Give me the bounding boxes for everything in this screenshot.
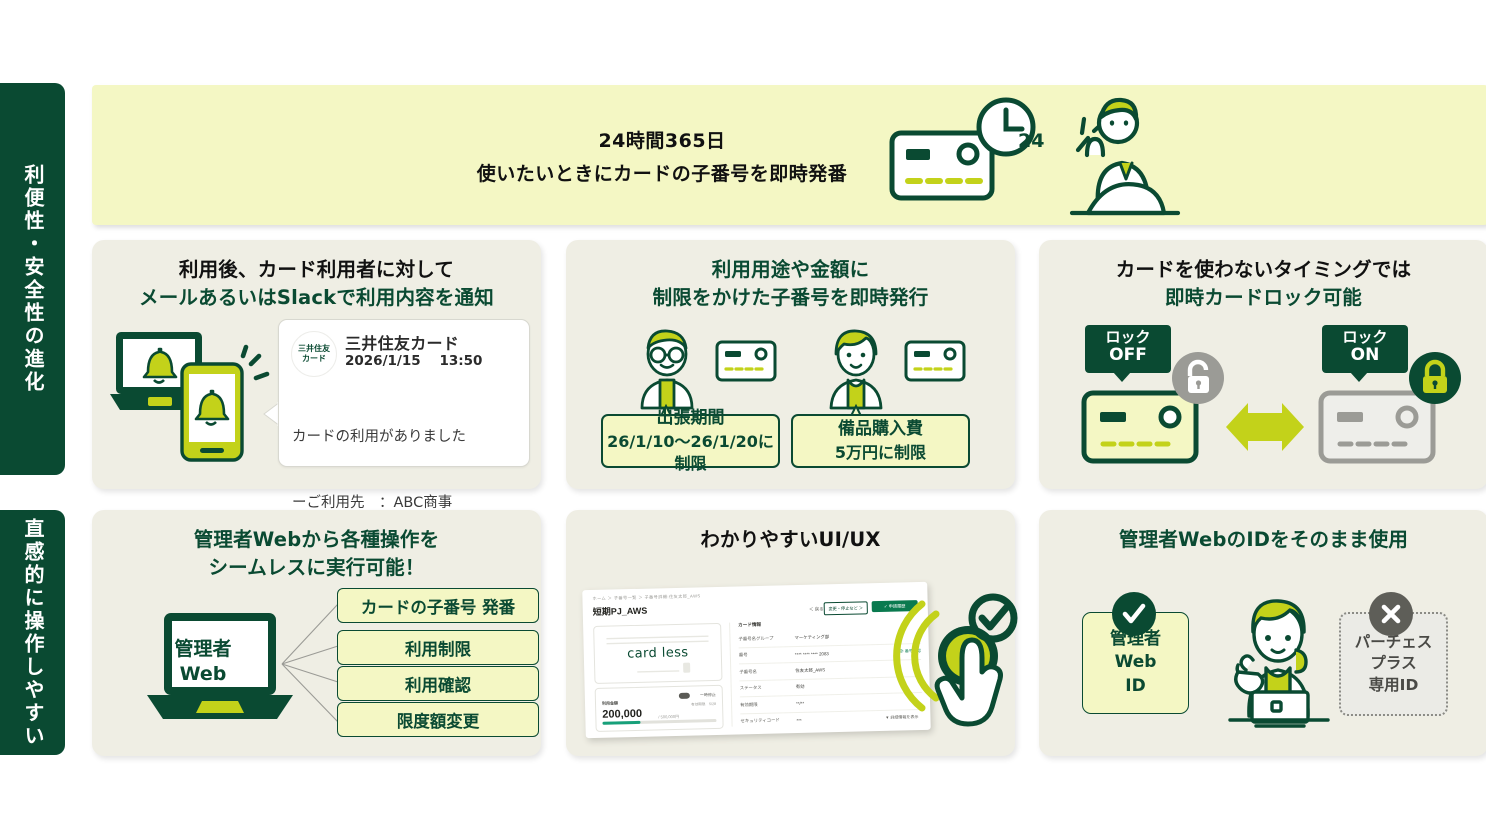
chip-issue-child-number-label: カードの子番号 発番 (361, 594, 515, 618)
lock-off-tag-line2: OFF (1085, 346, 1171, 366)
panel-notify-title-line1: 利用後、カード利用者に対して (92, 256, 541, 284)
panel-adminweb-title-line1: 管理者Webから各種操作を (92, 526, 541, 554)
mockup-row-key: セキュリティコード (740, 717, 796, 724)
clock-24-label: 24 (1018, 130, 1044, 152)
mockup-amount-box: ー時停止 有効期限 5/28 利用金額 200,000 / 500,000円 (595, 685, 724, 732)
lock-off-tag-line1: ロック (1085, 329, 1171, 346)
callout-supplies-limit-line1: 備品購入費 (838, 418, 923, 442)
hero-banner-text: 24時間365日 使いたいときにカードの子番号を即時発番 (432, 125, 892, 192)
unlock-icon (1172, 352, 1224, 404)
hero-illustration: 24 (882, 95, 1182, 220)
panel-notify-title-line2: メールあるいはSlackで利用内容を通知 (92, 284, 541, 312)
mockup-row-key: 有効期限 (740, 701, 796, 708)
mockup-row-key: 子番号名 (739, 668, 795, 675)
panel-lock-title-line2: 即時カードロック可能 (1039, 284, 1486, 312)
notification-sender: 三井住友カード (345, 330, 459, 354)
panel-adminweb-title: 管理者Webから各種操作を シームレスに実行可能！ (92, 526, 541, 583)
sidebar-tab-usability-label: 直感的に操作しやすい (20, 518, 45, 748)
chip-change-limit-amount[interactable]: 限度額変更 (337, 702, 539, 737)
adminweb-connector-lines (280, 588, 342, 738)
mockup-expiry: 有効期限 5/28 (691, 702, 716, 708)
limits-card-1 (715, 340, 777, 382)
lock-icon (1409, 352, 1461, 404)
callout-travel-limit-line2: 26/1/10〜26/1/20に制限 (603, 431, 778, 476)
limits-person-2 (816, 328, 896, 410)
lock-on-tag: ロック ON (1322, 325, 1408, 373)
lock-on-tag-line2: ON (1322, 346, 1408, 366)
issuer-logo: 三井住友 カード (291, 331, 337, 377)
adminweb-screen-label: 管理者 Web (160, 637, 246, 686)
mockup-amount-label: 利用金額 (602, 700, 618, 706)
swap-arrow-icon (1222, 395, 1308, 459)
panel-uiux-title-line1: わかりやすいUI/UX (566, 526, 1015, 554)
notification-card: 三井住友 カード 三井住友カード 2026/1/15 13:50 カードの利用が… (278, 319, 530, 467)
sidebar-tab-usability: 直感的に操作しやすい (0, 510, 65, 755)
issuer-logo-line1: 三井住友 (298, 344, 330, 354)
admin-ui-mockup[interactable]: ホーム ＞ 子番号一覧 ＞ 子番号詳細:住友太郎_AWS 短期PJ_AWS ＜ … (582, 582, 931, 738)
chip-usage-limit-label: 利用制限 (405, 636, 471, 660)
mockup-card-visual: card less (593, 623, 722, 684)
sidebar-tab-convenience-label: 利便性・安全性の進化 (20, 164, 45, 394)
chip-usage-check[interactable]: 利用確認 (337, 666, 539, 701)
check-badge-icon (1112, 592, 1156, 636)
chip-usage-check-label: 利用確認 (405, 672, 471, 696)
panel-adminweb-title-line2: シームレスに実行可能！ (92, 554, 541, 582)
notification-body-line1: カードの利用がありました (292, 426, 466, 448)
mockup-breadcrumb: ホーム ＞ 子番号一覧 ＞ 子番号詳細:住友太郎_AWS (592, 593, 700, 602)
notification-time: 13:50 (439, 353, 482, 369)
mockup-secondary-button[interactable]: 変更・停止など ＞ (824, 601, 868, 615)
lock-off-tag: ロック OFF (1085, 325, 1171, 373)
mockup-row-value: **** **** **** 2083 (795, 649, 899, 657)
chip-issue-child-number[interactable]: カードの子番号 発番 (337, 588, 539, 623)
lock-on-tag-line1: ロック (1322, 329, 1408, 346)
mockup-row-key: ステータス (740, 684, 796, 691)
sidebar-tab-convenience: 利便性・安全性の進化 (0, 83, 65, 475)
issuer-logo-line2: カード (302, 354, 326, 364)
callout-travel-limit-line1: 出張期間 (657, 407, 725, 431)
tap-gesture-illustration (900, 586, 1020, 726)
panel-sameid-title: 管理者WebのIDをそのまま使用 (1039, 526, 1486, 554)
id-box-purchase-plus-line3: 専用ID (1369, 675, 1419, 696)
panel-lock-title-line1: カードを使わないタイミングでは (1039, 256, 1486, 284)
cross-badge-icon (1369, 592, 1413, 636)
callout-supplies-limit-line2: 5万円に制限 (835, 442, 926, 464)
notification-date: 2026/1/15 (345, 353, 421, 369)
mockup-row-key: 子番号名グループ (738, 635, 794, 642)
adminweb-screen-label-line1: 管理者 (160, 637, 246, 662)
id-box-adminweb-line3: ID (1125, 675, 1145, 698)
limits-person-1 (627, 328, 707, 410)
id-box-adminweb-line2: Web (1115, 651, 1157, 674)
mockup-pause-label: ー時停止 (700, 692, 716, 698)
callout-travel-limit: 出張期間 26/1/10〜26/1/20に制限 (601, 414, 780, 468)
mockup-back-link[interactable]: ＜ 戻る (809, 606, 824, 612)
notification-timestamp: 2026/1/15 13:50 (345, 353, 482, 369)
limits-card-2 (904, 340, 966, 382)
hero-line1: 24時間365日 (432, 125, 892, 158)
panel-limits-title-line1: 利用用途や金額に (566, 256, 1015, 284)
id-box-purchase-plus-line2: プラス (1370, 653, 1416, 674)
mockup-pause-toggle[interactable] (679, 693, 690, 699)
chip-change-limit-amount-label: 限度額変更 (397, 708, 480, 732)
mockup-amount-value: 200,000 (602, 708, 642, 721)
panel-sameid-title-line1: 管理者WebのIDをそのまま使用 (1039, 526, 1486, 554)
mockup-detail-pane: カード情報 子番号名グループ マーケティング部 番号 **** **** ***… (729, 618, 922, 727)
panel-notify-title: 利用後、カード利用者に対して メールあるいはSlackで利用内容を通知 (92, 256, 541, 313)
panel-uiux-title: わかりやすいUI/UX (566, 526, 1015, 554)
adminweb-screen-label-line2: Web (160, 662, 246, 687)
chip-usage-limit[interactable]: 利用制限 (337, 630, 539, 665)
notify-devices-illustration (110, 328, 270, 463)
panel-limits-title: 利用用途や金額に 制限をかけた子番号を即時発行 (566, 256, 1015, 313)
callout-supplies-limit: 備品購入費 5万円に制限 (791, 414, 970, 468)
sameid-person-illustration (1216, 598, 1334, 726)
mockup-page-title: 短期PJ_AWS (593, 604, 648, 618)
slide-canvas: 利便性・安全性の進化 直感的に操作しやすい 24時間365日 使いたいときにカー… (0, 0, 1486, 836)
hero-banner: 24時間365日 使いたいときにカードの子番号を即時発番 24 (92, 85, 1486, 225)
hero-line2: 使いたいときにカードの子番号を即時発番 (432, 158, 892, 191)
panel-lock-title: カードを使わないタイミングでは 即時カードロック可能 (1039, 256, 1486, 313)
mockup-row-key: 番号 (739, 651, 795, 658)
mockup-progress-fill (602, 721, 640, 725)
panel-limits-title-line2: 制限をかけた子番号を即時発行 (566, 284, 1015, 312)
